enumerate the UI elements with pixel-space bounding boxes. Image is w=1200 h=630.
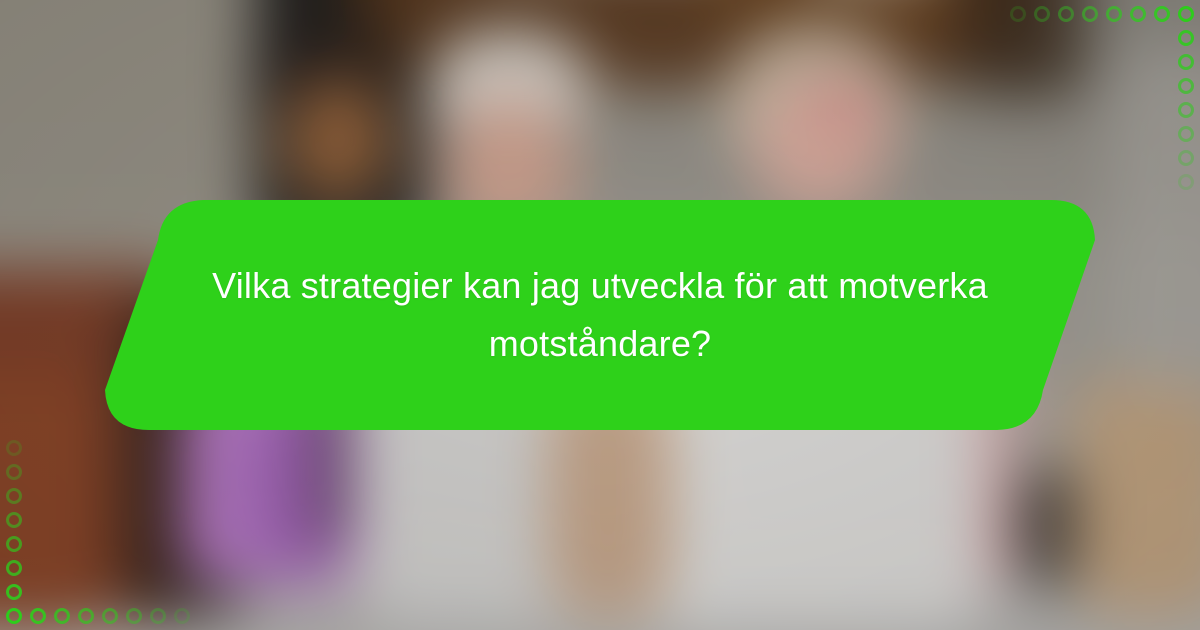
circle-outline-icon [1178, 54, 1194, 70]
circle-outline-icon [6, 536, 22, 552]
circle-outline-icon [6, 584, 22, 600]
background-shape-person1-face [282, 77, 393, 204]
quote-card: Vilka strategier kan jag utveckla för at… [0, 0, 1200, 630]
circle-outline-icon [6, 488, 22, 504]
circle-outline-icon [6, 512, 22, 528]
circle-outline-icon [78, 608, 94, 624]
quote-text: Vilka strategier kan jag utveckla för at… [163, 198, 1037, 432]
circle-outline-icon [6, 608, 22, 624]
circle-outline-icon [150, 608, 166, 624]
circle-outline-icon [102, 608, 118, 624]
circle-outline-icon [54, 608, 70, 624]
circle-outline-icon [1010, 6, 1026, 22]
circle-outline-icon [6, 440, 22, 456]
background-shape-person3-blush [812, 77, 886, 135]
circle-outline-icon [1106, 6, 1122, 22]
circle-outline-icon [1178, 6, 1194, 22]
circle-outline-icon [1034, 6, 1050, 22]
circle-outline-icon [1178, 102, 1194, 118]
circle-outline-icon [6, 464, 22, 480]
quote-bubble: Vilka strategier kan jag utveckla för at… [103, 198, 1097, 432]
circle-outline-icon [1058, 6, 1074, 22]
dot-cluster-top-right [1000, 0, 1200, 200]
circle-outline-icon [174, 608, 190, 624]
dot-cluster-bottom-left [0, 430, 200, 630]
circle-outline-icon [1130, 6, 1146, 22]
circle-outline-icon [1178, 126, 1194, 142]
circle-outline-icon [1154, 6, 1170, 22]
circle-outline-icon [1178, 150, 1194, 166]
circle-outline-icon [126, 608, 142, 624]
circle-outline-icon [1178, 174, 1194, 190]
circle-outline-icon [1178, 30, 1194, 46]
circle-outline-icon [30, 608, 46, 624]
circle-outline-icon [6, 560, 22, 576]
circle-outline-icon [1178, 78, 1194, 94]
circle-outline-icon [1082, 6, 1098, 22]
